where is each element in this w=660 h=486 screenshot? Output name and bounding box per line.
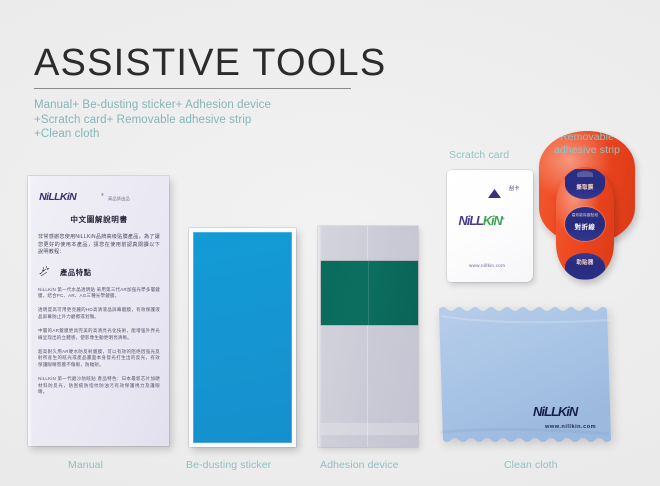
strip-top-label: 撕取膜	[565, 183, 605, 191]
adhesion-device	[318, 226, 418, 447]
callout-strip-line-2: adhesive strip	[539, 144, 635, 157]
manual-section-title: 產品特點	[60, 268, 92, 278]
strip-center-small-text: 高效能除塵貼紙	[565, 213, 605, 218]
manual-content: NiLLKiN ® 高品质出品 中文圖解說明書 非常感謝您使用NiLLKiN品牌…	[38, 192, 160, 403]
strip-top-tag: 撕取膜	[565, 169, 605, 199]
subtitle-line-3: +Clean cloth	[34, 127, 364, 142]
manual-brand-tm: ®	[101, 192, 104, 197]
manual-section-header: 產品特點	[38, 265, 160, 278]
adhesion-device-green-panel	[321, 261, 418, 325]
slide-canvas: ASSISTIVE TOOLS Manual+ Be-dusting stick…	[0, 0, 660, 486]
title-underline-divider	[34, 88, 351, 89]
manual-document-title: 中文圖解說明書	[38, 214, 160, 225]
adhesion-device-bottom-band	[321, 423, 418, 435]
subtitle-line-2: +Scratch card+ Removable adhesive strip	[34, 113, 364, 128]
manual-body-block: NiLLKiN 第一代磨沙防眩贴 產品特色：日本最新芯片加硬材料防反光，防刮痕防…	[38, 376, 160, 396]
strip-center-badge: 高效能除塵貼紙 對折線	[565, 207, 605, 241]
scratch-card-cn-label: 刮卡	[509, 185, 520, 192]
caption-be-dusting-sticker: Be-dusting sticker	[186, 459, 271, 471]
brand-part-1: NiLL	[459, 214, 483, 228]
caption-adhesion-device: Adhesion device	[320, 459, 399, 471]
clean-cloth: NiLLKiN www.nillkin.com	[435, 302, 617, 449]
manual-intro-paragraph: 非常感謝您使用NiLLKiN品牌高级贴膜產品，為了讓您更好的使用本產品，請您在使…	[38, 234, 160, 257]
manual-body-block: 超高耐久用AR硬水防反射鍍膜，可以有效的阻绝因强光反射所産生的眩光或產品畫面本身…	[38, 349, 160, 369]
strip-center-label: 對折線	[565, 222, 605, 231]
callout-strip-line-1: Removable	[539, 131, 635, 144]
adhesion-device-highlight	[318, 226, 322, 447]
strip-bottom-label: 助貼器	[565, 258, 605, 266]
scratch-card-brand-logo: NiLLKiN®	[459, 214, 504, 228]
page-title: ASSISTIVE TOOLS	[34, 44, 354, 84]
subtitle-line-1: Manual+ Be-dusting sticker+ Adhesion dev…	[34, 98, 364, 113]
sticker-blue-surface	[193, 232, 292, 443]
cloth-url: www.nillkin.com	[545, 424, 596, 430]
manual-brand-logo: NiLLKiN ® 高品质出品	[38, 192, 160, 203]
page-title-group: ASSISTIVE TOOLS	[34, 44, 354, 89]
manual-body-block: NiLLKiN 第一代水晶透明贴 采用第三代AR加强光學多層鍍膜，结合PC、AR…	[38, 287, 160, 300]
removable-adhesive-strip: 撕取膜 高效能除塵貼紙 對折線 助貼器	[556, 167, 614, 280]
scratch-card-url: www.nillkin.com	[469, 263, 505, 268]
adhesion-device-seam	[367, 226, 368, 447]
manual-brand-suffix: 高品质出品	[108, 196, 130, 202]
be-dusting-sticker	[189, 228, 296, 447]
sparkle-star-icon	[38, 265, 56, 278]
manual-brand-text: NiLLKiN	[39, 192, 76, 203]
caption-manual: Manual	[68, 459, 103, 471]
brand-part-2: KiN	[483, 214, 502, 228]
caption-clean-cloth: Clean cloth	[504, 459, 558, 471]
page-subtitle: Manual+ Be-dusting sticker+ Adhesion dev…	[34, 98, 364, 142]
cloth-brand-logo: NiLLKiN	[533, 404, 577, 419]
strip-top-tag-cap	[577, 171, 593, 177]
manual-body-block: 中層的AR鍍膜更具完美的高清亮光化技術，能增强外界光線呈现出的立體感，使影像生動…	[38, 328, 160, 341]
scratch-card: 刮卡 NiLLKiN® www.nillkin.com	[447, 170, 533, 282]
strip-bottom-tag: 助貼器	[565, 253, 605, 279]
callout-scratch-card: Scratch card	[449, 149, 509, 162]
product-manual-booklet: NiLLKiN ® 高品质出品 中文圖解說明書 非常感謝您使用NiLLKiN品牌…	[28, 176, 169, 446]
green-panel-seam	[368, 261, 369, 325]
manual-body-block: 透明度高可用更亮麗的HD高清液晶屏幕鍍膜，有效保護液晶屏幕防止外力磨擦或划傷。	[38, 307, 160, 320]
triangle-up-icon	[488, 185, 501, 203]
brand-tm: ®	[502, 216, 504, 221]
